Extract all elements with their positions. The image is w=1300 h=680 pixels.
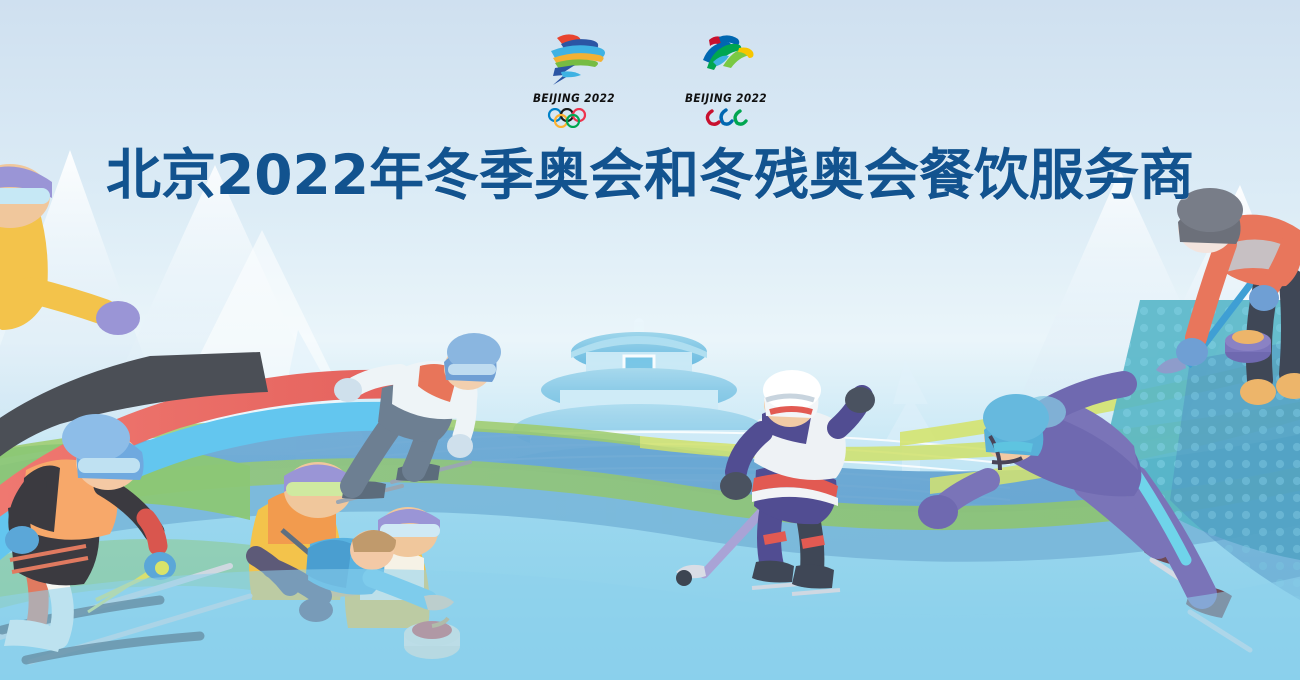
flying-high-emblem (683, 30, 769, 92)
hockey-puck (676, 570, 692, 586)
olympic-wordmark: BEIJING 2022 (533, 93, 615, 106)
curler-sweeping (1156, 188, 1300, 405)
paralympic-wordmark: BEIJING 2022 (685, 93, 767, 106)
ice-hockey-player (676, 370, 875, 594)
beijing-2022-olympic-emblem: BEIJING 2022 (529, 30, 619, 138)
olympic-rings (546, 108, 602, 128)
olympic-banner: BEIJING 2022 BEIJIN (0, 0, 1300, 680)
emblems-row: BEIJING 2022 BEIJIN (0, 30, 1300, 140)
paralympic-agitos (702, 108, 750, 128)
beijing-2022-paralympic-emblem: BEIJING 2022 (681, 30, 771, 138)
winter-dream-emblem (531, 30, 617, 92)
page-title: 北京2022年冬季奥会和冬残奥会餐饮服务商 (0, 142, 1300, 208)
curling-stone-right (1225, 330, 1271, 363)
